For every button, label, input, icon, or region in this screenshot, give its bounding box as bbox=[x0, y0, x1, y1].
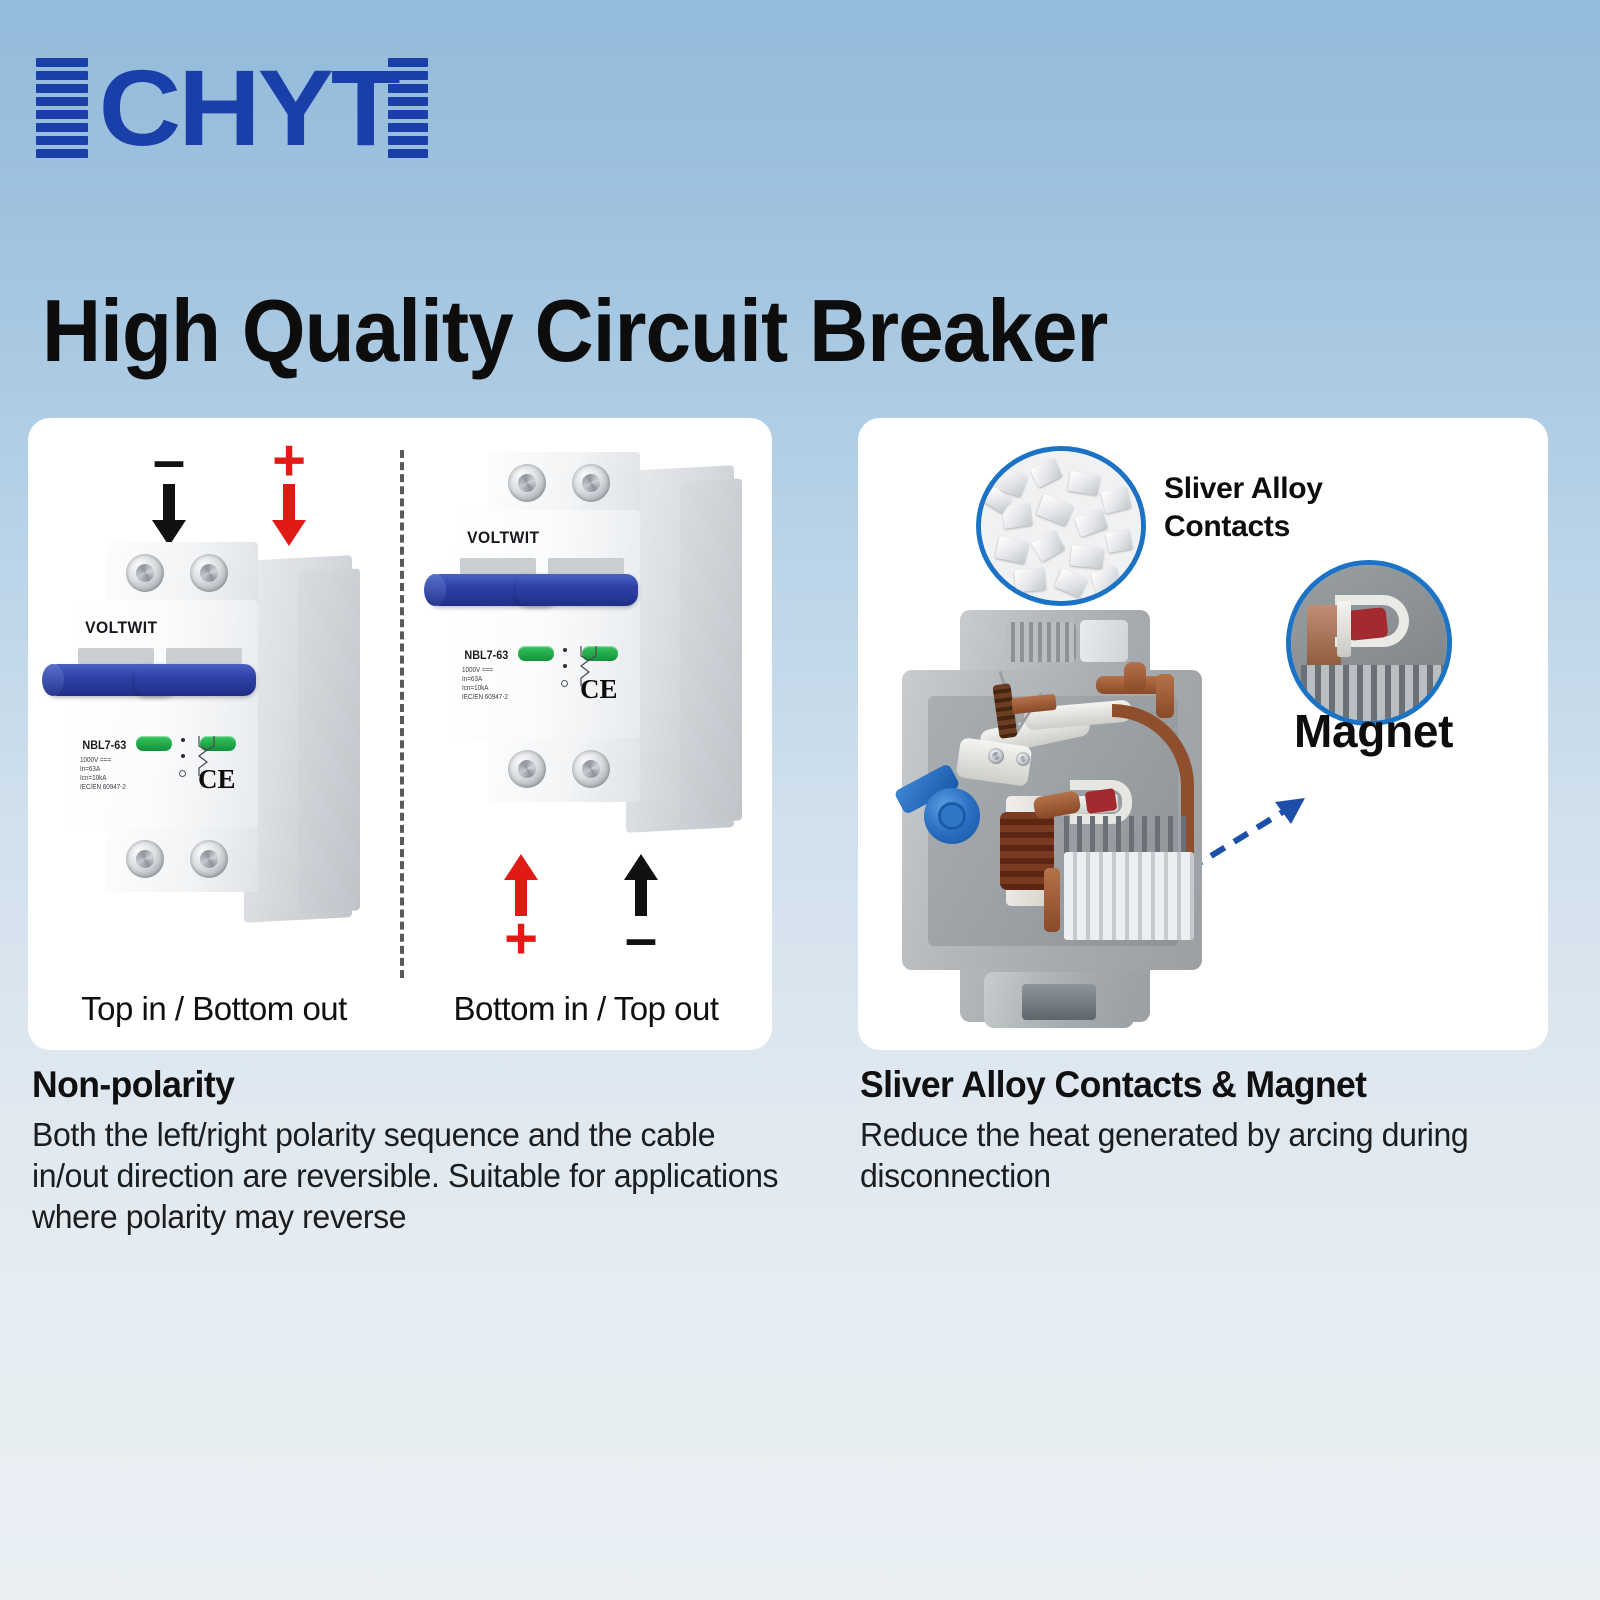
logo-bar bbox=[36, 110, 88, 119]
breaker-spec-line: IEC/EN 60947-2 bbox=[80, 783, 126, 792]
breaker-model-b: NBL7-63 bbox=[464, 648, 508, 662]
diagram-top-in-bottom-out: – + VOLTWIT bbox=[28, 418, 400, 1050]
minus-sign: – bbox=[146, 444, 192, 478]
logo-bar bbox=[36, 97, 88, 106]
breaker-brand-b: VOLTWIT bbox=[467, 528, 539, 548]
label-line-1: Sliver Alloy bbox=[1164, 472, 1323, 505]
contacts-photo bbox=[981, 451, 1141, 601]
breaker-specs-b: 1000V ===In=63AIcn=10kAIEC/EN 60947-2 bbox=[462, 666, 508, 702]
contacts-magnet-card: Sliver Alloy Contacts Magnet bbox=[858, 418, 1548, 1050]
polarity-positive-down: + bbox=[266, 444, 312, 546]
breaker-image-a: VOLTWIT NBL7-63 1000V ===In=63AIcn=10kAI… bbox=[48, 540, 378, 940]
polarity-positive-up: + bbox=[498, 854, 544, 956]
breaker-spec-line: Icn=10kA bbox=[80, 774, 126, 783]
plus-sign: + bbox=[498, 922, 544, 956]
feature-contacts-magnet: Sliver Alloy Contacts & Magnet Reduce th… bbox=[860, 1064, 1560, 1196]
logo-bar bbox=[36, 71, 88, 80]
breaker-spec-line: Icn=10kA bbox=[462, 684, 508, 693]
diagram-bottom-in-top-out: VOLTWIT NBL7-63 1000V ===In=63AIcn=10kAI… bbox=[400, 418, 772, 1050]
breaker-image-b: VOLTWIT NBL7-63 1000V ===In=63AIcn=10kAI… bbox=[430, 450, 760, 850]
callout-silver-alloy-contacts bbox=[976, 446, 1146, 606]
logo-bar bbox=[36, 136, 88, 145]
logo-bar bbox=[36, 123, 88, 132]
label-magnet: Magnet bbox=[1294, 706, 1453, 756]
logo-bars-left bbox=[36, 56, 88, 160]
polarity-arrows-top: – + bbox=[146, 444, 312, 546]
callout-magnet bbox=[1286, 560, 1452, 726]
feature-non-polarity: Non-polarity Both the left/right polarit… bbox=[32, 1064, 822, 1237]
breaker-specs-a: 1000V ===In=63AIcn=10kAIEC/EN 60947-2 bbox=[80, 756, 126, 792]
minus-sign: – bbox=[618, 922, 664, 956]
breaker-spec-line: 1000V === bbox=[462, 666, 508, 675]
breaker-ce-mark-b: CE bbox=[580, 674, 618, 705]
feature-body: Both the left/right polarity sequence an… bbox=[32, 1114, 798, 1237]
caption-bottom-in-top-out: Bottom in / Top out bbox=[400, 990, 772, 1028]
logo-bar bbox=[36, 84, 88, 93]
breaker-spec-line: In=63A bbox=[80, 765, 126, 774]
label-line-1: Magnet bbox=[1294, 705, 1453, 757]
polarity-negative-up: – bbox=[618, 854, 664, 956]
arrow-down-black-icon bbox=[146, 484, 192, 546]
plus-sign: + bbox=[266, 444, 312, 478]
feature-body: Reduce the heat generated by arcing duri… bbox=[860, 1114, 1539, 1196]
feature-heading: Sliver Alloy Contacts & Magnet bbox=[860, 1064, 1532, 1106]
page-title: High Quality Circuit Breaker bbox=[42, 283, 1251, 379]
breaker-ce-mark-a: CE bbox=[198, 764, 236, 795]
breaker-spec-line: In=63A bbox=[462, 675, 508, 684]
label-line-2: Contacts bbox=[1164, 510, 1290, 543]
breaker-spec-line: 1000V === bbox=[80, 756, 126, 765]
logo-wordmark: CHYT bbox=[88, 56, 406, 160]
breaker-internal-mechanism-image bbox=[888, 600, 1260, 1030]
brand-logo: CHYT bbox=[36, 52, 428, 164]
label-silver-alloy-contacts: Sliver Alloy Contacts bbox=[1164, 470, 1323, 546]
feature-heading: Non-polarity bbox=[32, 1064, 790, 1106]
breaker-brand-a: VOLTWIT bbox=[85, 618, 157, 638]
breaker-spec-line: IEC/EN 60947-2 bbox=[462, 693, 508, 702]
breaker-model-a: NBL7-63 bbox=[82, 738, 126, 752]
caption-top-in-bottom-out: Top in / Bottom out bbox=[28, 990, 400, 1028]
logo-bar bbox=[36, 149, 88, 158]
polarity-arrows-bottom: + – bbox=[498, 854, 664, 956]
non-polarity-card: – + VOLTWIT bbox=[28, 418, 772, 1050]
polarity-negative-down: – bbox=[146, 444, 192, 546]
arrow-down-red-icon bbox=[266, 484, 312, 546]
logo-bar bbox=[36, 58, 88, 67]
magnet-photo bbox=[1291, 565, 1447, 721]
